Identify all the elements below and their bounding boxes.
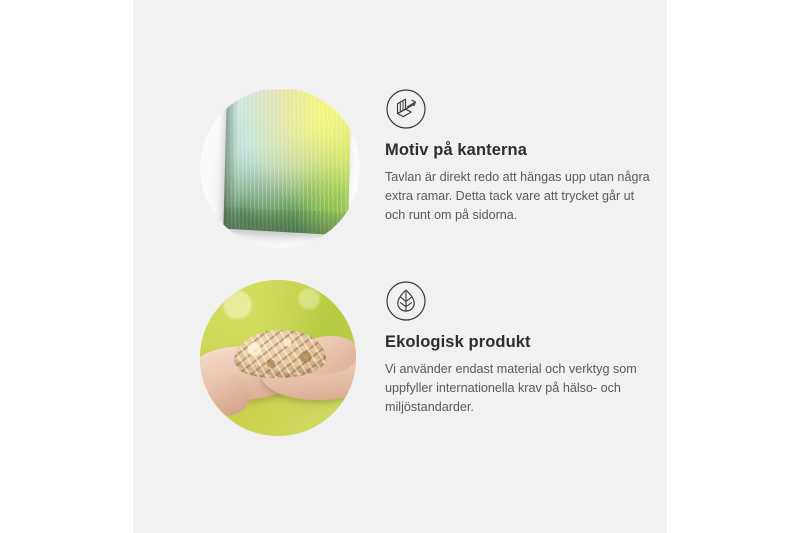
feature-text-edges: Motiv på kanterna Tavlan är direkt redo … (385, 88, 667, 225)
feature-text-eco: Ekologisk produkt Vi använder endast mat… (385, 280, 667, 417)
feature-block-eco: Ekologisk produkt Vi använder endast mat… (133, 280, 667, 440)
canvas-print-corner-photo (200, 88, 360, 248)
feature-description: Vi använder endast material och verktyg … (385, 360, 657, 417)
leaf-icon (385, 280, 427, 322)
feature-title: Ekologisk produkt (385, 333, 667, 353)
feature-block-edges: Motiv på kanterna Tavlan är direkt redo … (133, 88, 667, 253)
hands-holding-wood-chips-photo (200, 280, 356, 436)
product-info-graphic: Motiv på kanterna Tavlan är direkt redo … (0, 0, 800, 533)
feature-title: Motiv på kanterna (385, 141, 667, 161)
feature-description: Tavlan är direkt redo att hängas upp uta… (385, 168, 657, 225)
canvas-wrapped-edges-icon (385, 88, 427, 130)
content-panel: Motiv på kanterna Tavlan är direkt redo … (133, 0, 667, 533)
canvas-print (223, 88, 351, 236)
